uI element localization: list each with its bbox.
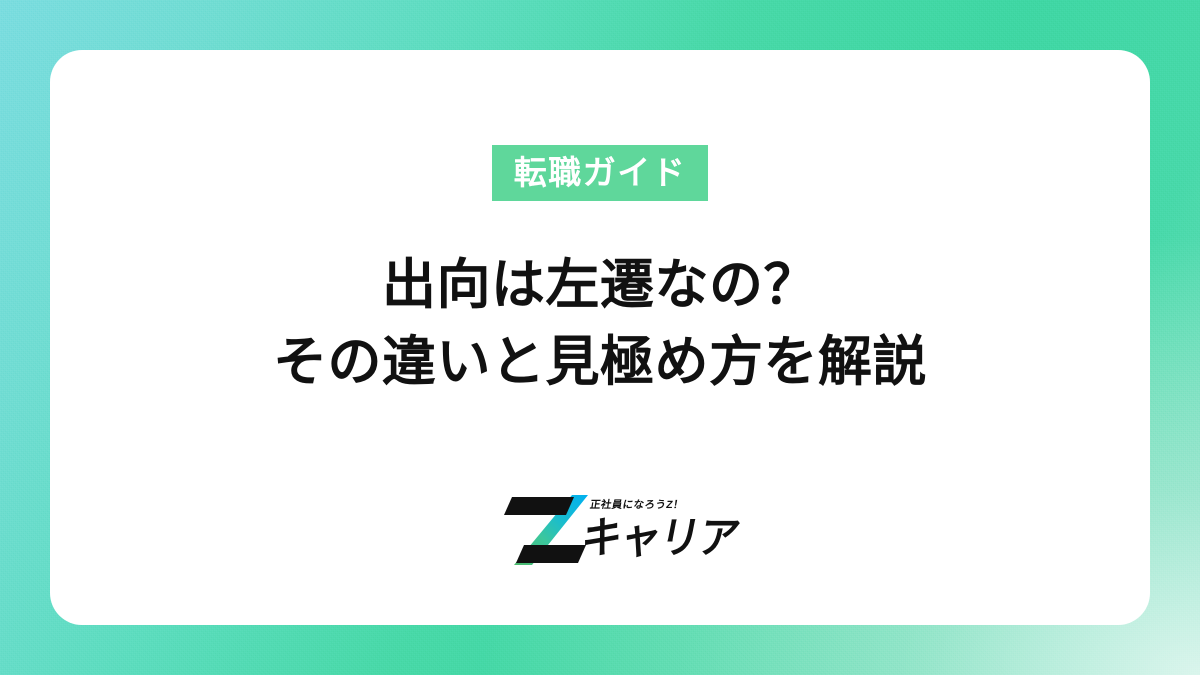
logo-wordmark: キャリア — [578, 517, 742, 560]
z-mark-icon — [502, 493, 588, 567]
page-title: 出向は左遷なの？ その違いと見極め方を解説 — [273, 247, 927, 400]
ogp-canvas: 転職ガイド 出向は左遷なの？ その違いと見極め方を解説 — [0, 0, 1200, 675]
content-card: 転職ガイド 出向は左遷なの？ その違いと見極め方を解説 — [50, 50, 1150, 625]
brand-logo: 正社員になろうZ！ キャリア — [502, 489, 698, 567]
page-title-line-2: その違いと見極め方を解説 — [273, 324, 927, 401]
logo-tagline: 正社員になろうZ！ — [589, 497, 685, 512]
category-badge: 転職ガイド — [492, 145, 709, 201]
page-title-line-1: 出向は左遷なの？ — [273, 247, 927, 324]
